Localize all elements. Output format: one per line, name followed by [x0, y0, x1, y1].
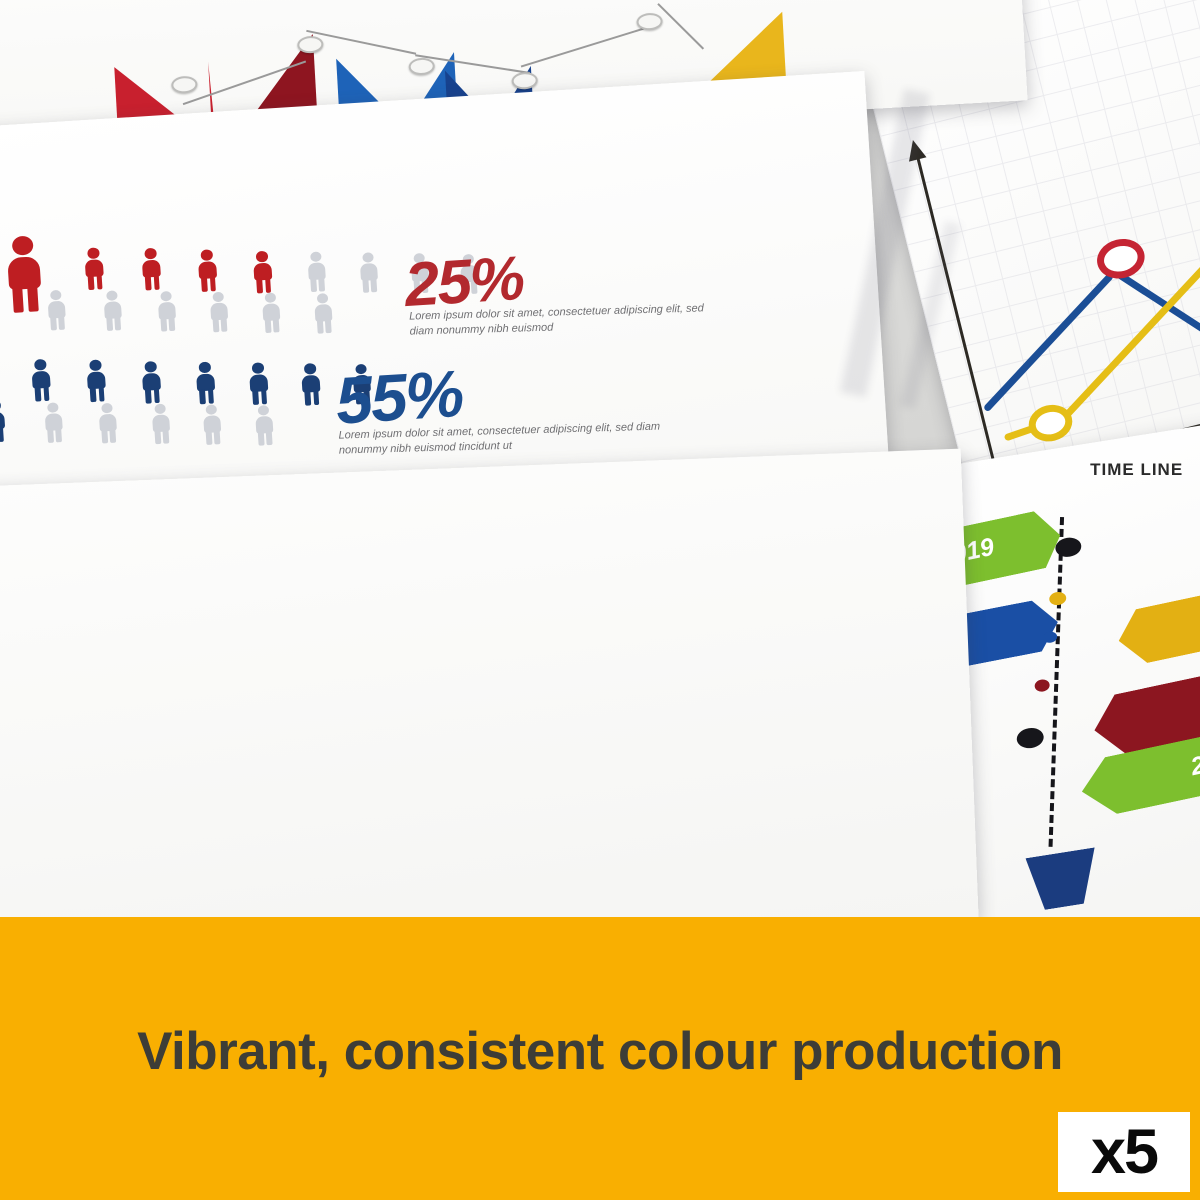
person-icon — [98, 403, 118, 444]
person-icon — [197, 249, 218, 292]
person-icon — [248, 362, 269, 405]
timeline-dot-4 — [1034, 678, 1051, 692]
quantity-badge: x5 — [1058, 1112, 1190, 1192]
banner-caption-text: Vibrant, consistent colour production — [0, 1021, 1200, 1082]
timeline-navy-shape — [1025, 847, 1103, 911]
timeline-spine — [1049, 517, 1069, 847]
person-icon — [84, 247, 105, 290]
person-icon — [254, 405, 274, 446]
person-icon — [5, 235, 44, 313]
person-icon — [252, 251, 273, 294]
timeline-title: TIME LINE — [1090, 460, 1183, 480]
data-point-red — [1093, 234, 1149, 283]
person-icon — [103, 290, 123, 331]
person-icon — [151, 403, 171, 444]
person-icon — [141, 361, 162, 404]
person-icon — [86, 359, 107, 402]
person-icon — [0, 400, 7, 443]
quantity-badge-text: x5 — [1091, 1121, 1157, 1184]
trend-line-4 — [521, 24, 657, 67]
screenshot-root: 125 TIME LINE 2019 2020 — [0, 0, 1200, 1200]
timeline-arrow-yellow — [1113, 579, 1200, 668]
timeline-dot-5 — [1015, 726, 1045, 750]
person-icon — [47, 290, 67, 331]
person-icon — [359, 252, 379, 293]
person-icon — [195, 361, 216, 404]
timeline-label-2020: 2020 — [1188, 742, 1200, 782]
person-icon — [261, 292, 281, 333]
area-marker-4 — [511, 72, 538, 90]
person-icon — [157, 291, 177, 332]
person-icon — [307, 251, 327, 292]
caption-banner: Vibrant, consistent colour production x5 — [0, 917, 1200, 1200]
person-icon — [313, 293, 333, 334]
area-marker-2 — [297, 35, 324, 53]
person-icon — [31, 359, 52, 402]
person-icon — [301, 363, 322, 406]
line-segment-blue-1 — [983, 272, 1114, 412]
person-icon — [44, 402, 64, 443]
person-icon — [209, 291, 229, 332]
paper-sheet-pyramid: 35% 10% 15% 60% 0% — [0, 449, 979, 917]
product-photo: 125 TIME LINE 2019 2020 — [0, 0, 1200, 917]
person-icon — [141, 248, 162, 291]
person-icon — [202, 404, 222, 445]
